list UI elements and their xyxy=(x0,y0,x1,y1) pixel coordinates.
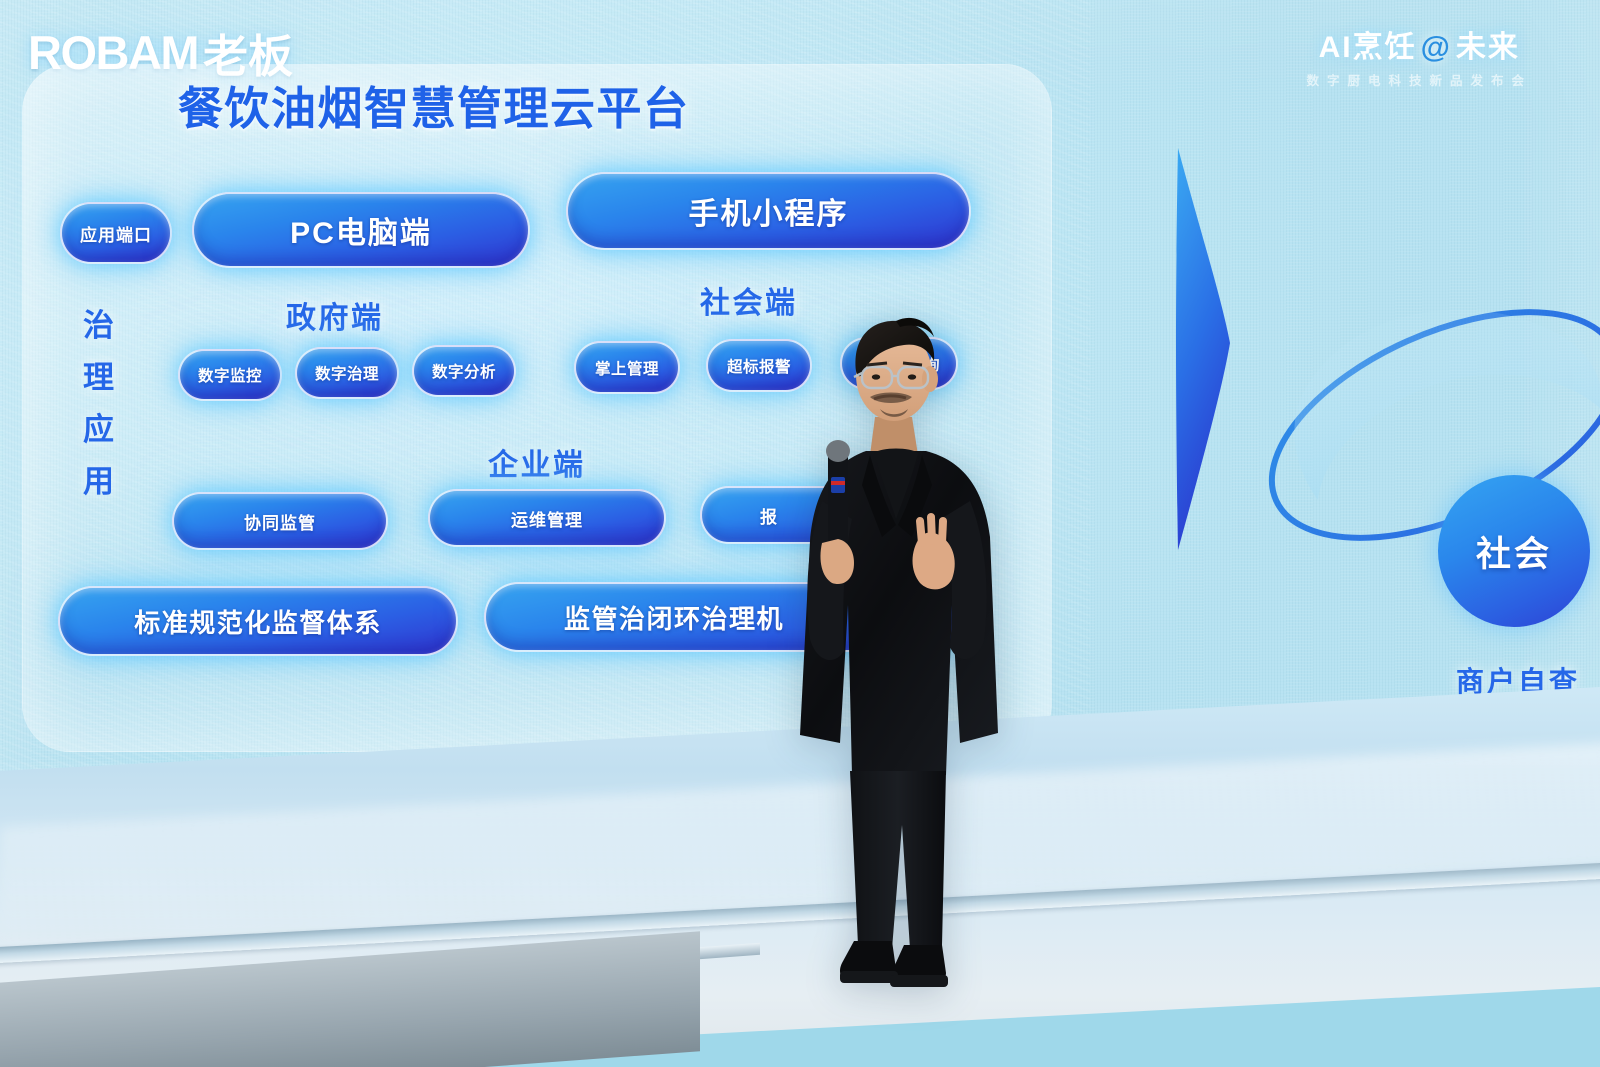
pill-collaborative-supervision-label: 协同监管 xyxy=(244,509,316,534)
pill-entry-port[interactable]: 应用端口 xyxy=(60,202,172,264)
pill-mobile-miniprogram-label: 手机小程序 xyxy=(689,189,849,233)
society-node-label: 社会 xyxy=(1476,526,1552,577)
pill-ops-management-label: 运维管理 xyxy=(511,506,583,531)
pill-digital-monitoring[interactable]: 数字监控 xyxy=(178,349,282,401)
right-graphic-group: 社会 商户自查 xyxy=(1090,90,1600,690)
event-title: AI烹饪@未来 xyxy=(1306,22,1532,66)
group-label-government: 政府端 xyxy=(286,293,384,337)
event-branding: AI烹饪@未来 数字厨电科技新品发布会 xyxy=(1306,22,1532,89)
pill-digital-monitoring-label: 数字监控 xyxy=(198,364,262,386)
governance-vertical-label: 治理应用 xyxy=(76,300,122,508)
event-title-part1: AI烹饪 xyxy=(1319,31,1417,64)
pill-ops-management[interactable]: 运维管理 xyxy=(428,489,666,547)
pill-standard-supervision-system-label: 标准规范化监督体系 xyxy=(134,603,382,640)
pill-mobile-miniprogram[interactable]: 手机小程序 xyxy=(566,172,971,250)
event-subtitle: 数字厨电科技新品发布会 xyxy=(1306,70,1532,89)
pill-standard-supervision-system[interactable]: 标准规范化监督体系 xyxy=(58,586,458,656)
pill-mobile-management-label: 掌上管理 xyxy=(595,357,659,379)
pill-collaborative-supervision[interactable]: 协同监管 xyxy=(172,492,388,550)
society-node-circle[interactable]: 社会 xyxy=(1438,475,1590,627)
pill-digital-analysis[interactable]: 数字分析 xyxy=(412,345,516,397)
presenter-figure xyxy=(770,305,1040,1025)
at-symbol-icon: @ xyxy=(1421,31,1452,65)
stage-scene: ROBAM 老板 AI烹饪@未来 数字厨电科技新品发布会 餐饮油烟智慧管理云平台… xyxy=(0,0,1600,1067)
pill-digital-governance[interactable]: 数字治理 xyxy=(295,347,399,399)
page-title: 餐饮油烟智慧管理云平台 xyxy=(178,72,690,137)
pill-pc-platform[interactable]: PC电脑端 xyxy=(192,192,530,268)
pill-mobile-management[interactable]: 掌上管理 xyxy=(574,341,680,394)
pill-digital-analysis-label: 数字分析 xyxy=(432,360,496,382)
group-label-enterprise: 企业端 xyxy=(488,440,586,484)
event-title-part2: 未来 xyxy=(1456,31,1520,64)
pill-entry-port-label: 应用端口 xyxy=(80,221,152,246)
pill-pc-platform-label: PC电脑端 xyxy=(290,208,432,252)
pill-digital-governance-label: 数字治理 xyxy=(315,362,379,384)
pill-closed-loop-governance-label: 监管治闭环治理机 xyxy=(564,599,784,636)
